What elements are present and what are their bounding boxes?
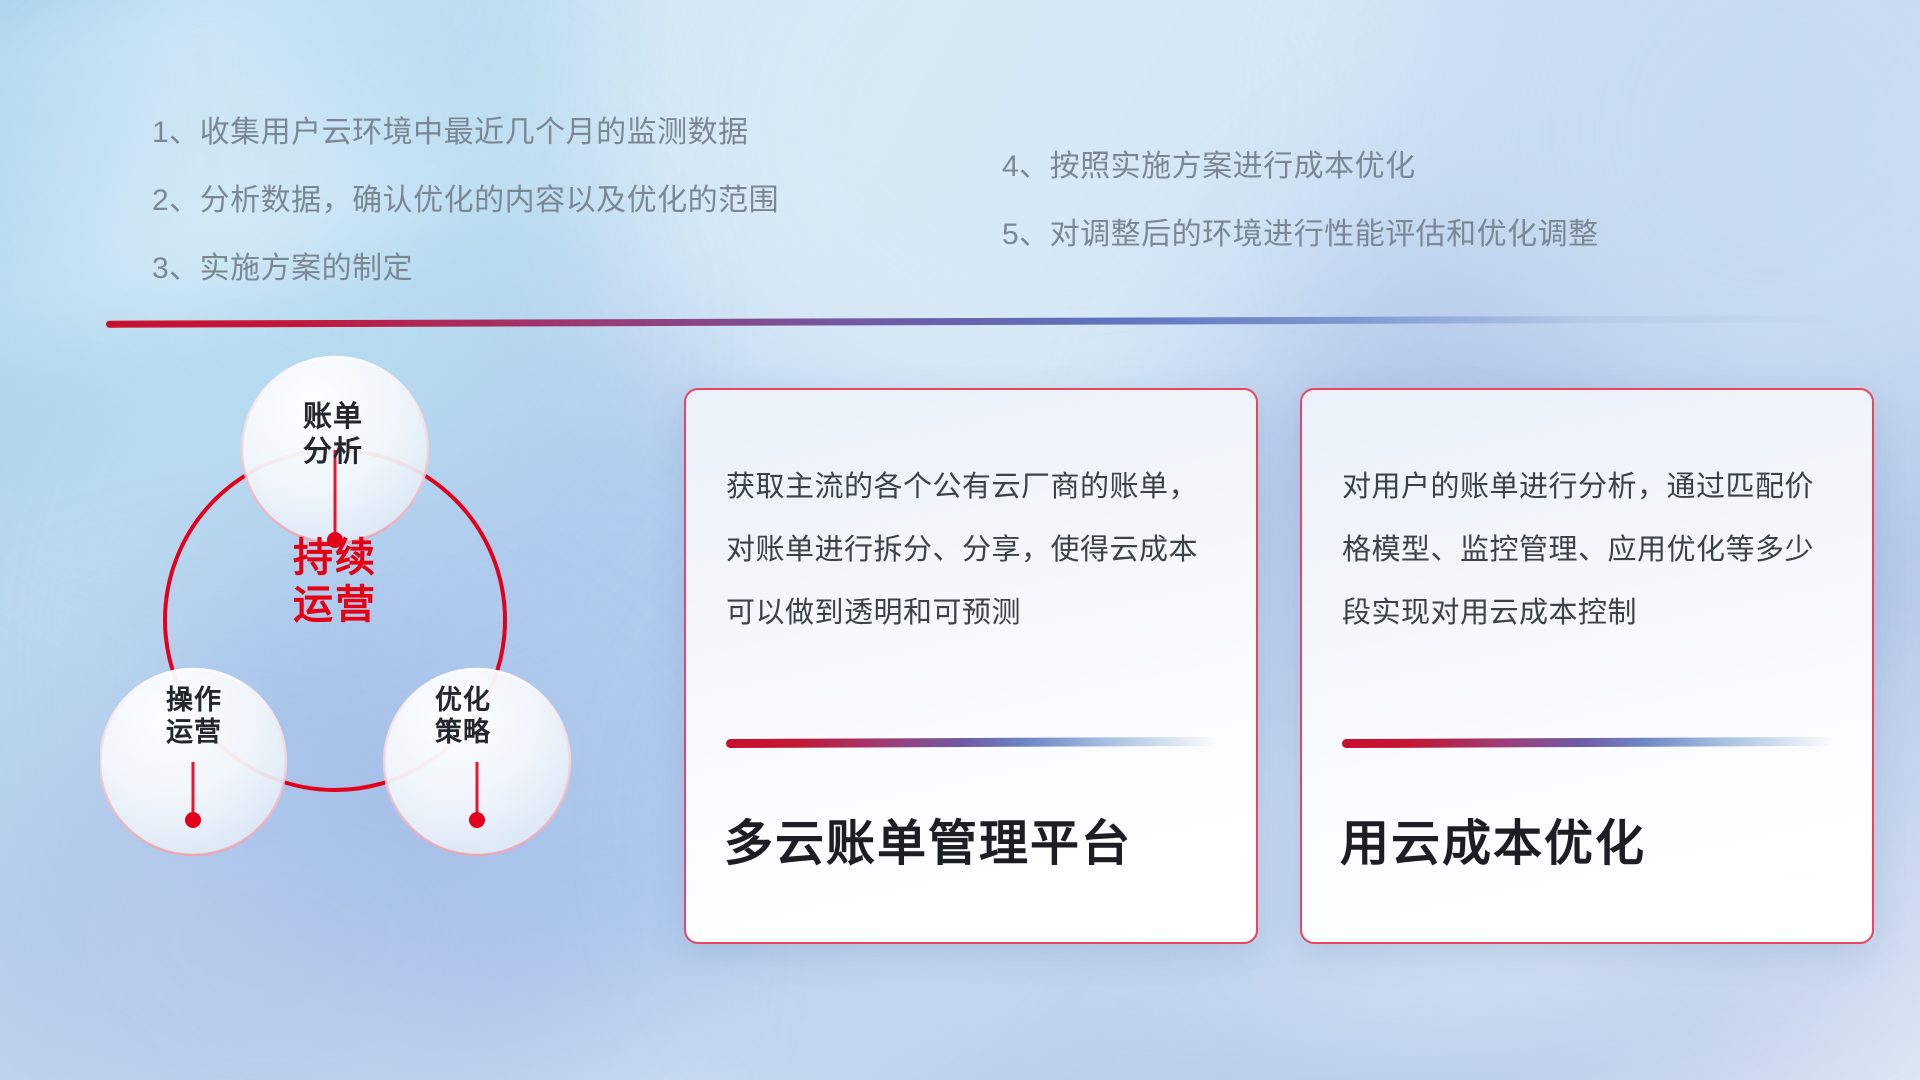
step-item: 5、对调整后的环境进行性能评估和优化调整 — [1002, 220, 1599, 250]
steps-right-column: 4、按照实施方案进行成本优化 5、对调整后的环境进行性能评估和优化调整 — [1002, 152, 1599, 288]
circle-label-line: 操作 — [114, 684, 274, 716]
card-divider — [726, 737, 1216, 748]
circle-label-line: 策略 — [383, 716, 543, 748]
step-item: 4、按照实施方案进行成本优化 — [1002, 152, 1599, 182]
circle-label-optimization-strategy: 优化 策略 — [383, 684, 543, 749]
step-item: 3、实施方案的制定 — [152, 254, 779, 284]
card-title: 多云账单管理平台 — [724, 804, 1236, 875]
card-body-text: 获取主流的各个公有云厂商的账单，对账单进行拆分、分享，使得云成本可以做到透明和可… — [726, 456, 1226, 645]
card-body-text: 对用户的账单进行分析，通过匹配价格模型、监控管理、应用优化等多少段实现对用云成本… — [1342, 456, 1842, 645]
circle-label-line: 分析 — [248, 435, 418, 470]
feature-card-multicloud-billing[interactable]: 获取主流的各个公有云厂商的账单，对账单进行拆分、分享，使得云成本可以做到透明和可… — [684, 388, 1258, 944]
step-item: 1、收集用户云环境中最近几个月的监测数据 — [152, 118, 779, 148]
circle-label-operations-management: 操作 运营 — [114, 684, 274, 749]
circle-label-line: 账单 — [248, 400, 418, 435]
feature-card-cloud-cost-optimization[interactable]: 对用户的账单进行分析，通过匹配价格模型、监控管理、应用优化等多少段实现对用云成本… — [1300, 388, 1874, 944]
circle-label-line: 运营 — [114, 716, 274, 748]
node-dot-bottom-left — [185, 812, 201, 828]
card-divider — [1342, 737, 1832, 748]
continuous-operations-diagram: 账单 分析 持续 运营 操作 运营 优化 策略 — [100, 350, 620, 950]
diagram-center-label: 持续 运营 — [240, 535, 430, 629]
node-dot-bottom-right — [469, 812, 485, 828]
card-title: 用云成本优化 — [1340, 804, 1852, 875]
circle-label-line: 优化 — [383, 684, 543, 716]
step-item: 2、分析数据，确认优化的内容以及优化的范围 — [152, 186, 779, 216]
center-label-line: 运营 — [240, 582, 430, 629]
steps-left-column: 1、收集用户云环境中最近几个月的监测数据 2、分析数据，确认优化的内容以及优化的… — [152, 118, 779, 322]
circle-label-bill-analysis: 账单 分析 — [248, 400, 418, 470]
center-label-line: 持续 — [240, 535, 430, 582]
